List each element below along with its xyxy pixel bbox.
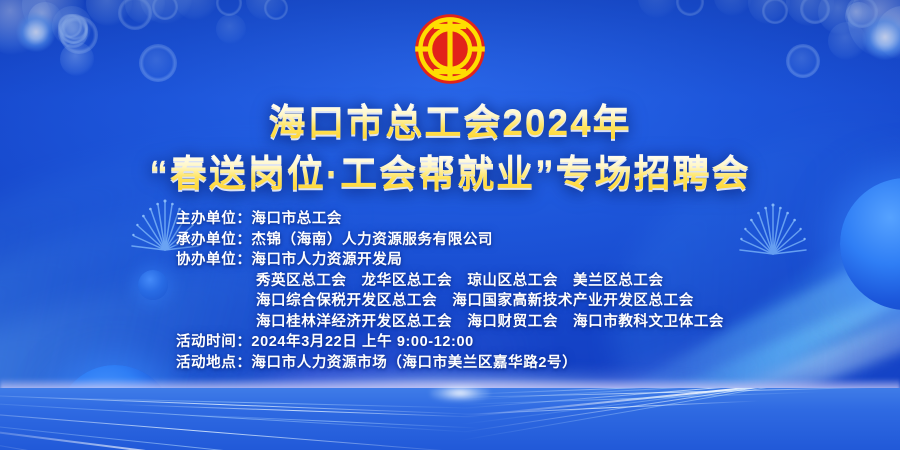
recruitment-poster: 海口市总工会2024年 “春送岗位·工会帮就业”专场招聘会 主办单位：海口市总工… xyxy=(0,0,900,450)
poster-content: 海口市总工会2024年 “春送岗位·工会帮就业”专场招聘会 主办单位：海口市总工… xyxy=(0,0,900,450)
info-line: 海口综合保税开发区总工会 海口国家高新技术产业开发区总工会 xyxy=(176,291,724,312)
poster-title-block: 海口市总工会2024年 “春送岗位·工会帮就业”专场招聘会 xyxy=(0,100,900,196)
info-line: 主办单位：海口市总工会 xyxy=(176,209,724,230)
poster-info-lines: 主办单位：海口市总工会承办单位：杰锦（海南）人力资源服务有限公司协办单位：海口市… xyxy=(176,209,724,373)
poster-title-line2: “春送岗位·工会帮就业”专场招聘会 xyxy=(0,151,900,196)
info-line: 承办单位：杰锦（海南）人力资源服务有限公司 xyxy=(176,230,724,251)
poster-title-line1: 海口市总工会2024年 xyxy=(0,100,900,145)
acftu-union-emblem-icon xyxy=(413,12,487,86)
info-line: 海口桂林洋经济开发区总工会 海口财贸工会 海口市教科文卫体工会 xyxy=(176,312,724,333)
poster-info-block: 主办单位：海口市总工会承办单位：杰锦（海南）人力资源服务有限公司协办单位：海口市… xyxy=(0,209,900,373)
info-line: 活动地点：海口市人力资源市场（海口市美兰区嘉华路2号） xyxy=(176,353,724,374)
info-line: 秀英区总工会 龙华区总工会 琼山区总工会 美兰区总工会 xyxy=(176,271,724,292)
info-line: 协办单位：海口市人力资源开发局 xyxy=(176,250,724,271)
info-line: 活动时间：2024年3月22日 上午 9:00-12:00 xyxy=(176,332,724,353)
